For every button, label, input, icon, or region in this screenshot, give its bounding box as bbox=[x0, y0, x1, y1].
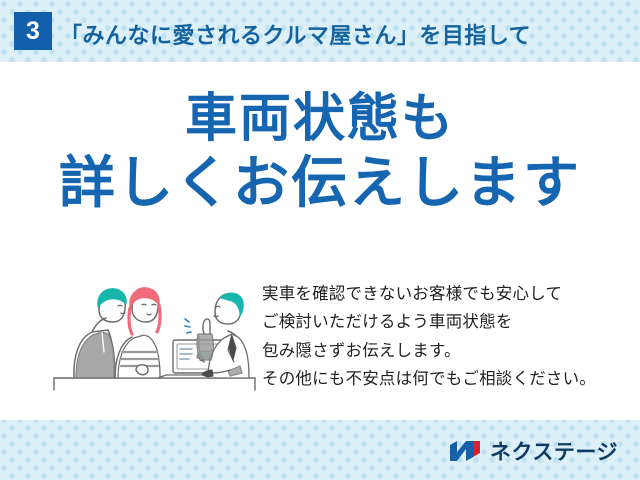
brand-logo: ネクステージ bbox=[449, 436, 618, 466]
brand-name: ネクステージ bbox=[490, 436, 618, 466]
content-panel: 車両状態も 詳しくお伝えします bbox=[0, 62, 640, 420]
page-header: 3 「みんなに愛されるクルマ屋さん」を目指して bbox=[0, 0, 640, 62]
lower-section: 実車を確認できないお客様でも安心して ご検討いただけるよう車両状態を 包み隠さず… bbox=[0, 272, 640, 412]
body-text: 実車を確認できないお客様でも安心して ご検討いただけるよう車両状態を 包み隠さず… bbox=[262, 280, 596, 394]
consultation-illustration bbox=[52, 274, 257, 392]
consultation-illustration-svg bbox=[52, 274, 257, 392]
page-footer: ネクステージ bbox=[0, 420, 640, 480]
headline-line-1: 車両状態も bbox=[0, 90, 640, 148]
body-line-3: 包み隠さずお伝えします。 bbox=[262, 337, 596, 365]
headline: 車両状態も 詳しくお伝えします bbox=[0, 90, 640, 215]
promo-page: 3 「みんなに愛されるクルマ屋さん」を目指して 車両状態も 詳しくお伝えします bbox=[0, 0, 640, 480]
body-line-4: その他にも不安点は何でもご相談ください。 bbox=[262, 365, 596, 393]
nextage-n-mark-icon bbox=[449, 439, 483, 463]
section-number-badge: 3 bbox=[14, 12, 52, 50]
body-line-1: 実車を確認できないお客様でも安心して bbox=[262, 280, 596, 308]
body-line-2: ご検討いただけるよう車両状態を bbox=[262, 308, 596, 336]
header-title: 「みんなに愛されるクルマ屋さん」を目指して bbox=[60, 18, 531, 50]
headline-line-2: 詳しくお伝えします bbox=[0, 152, 640, 215]
